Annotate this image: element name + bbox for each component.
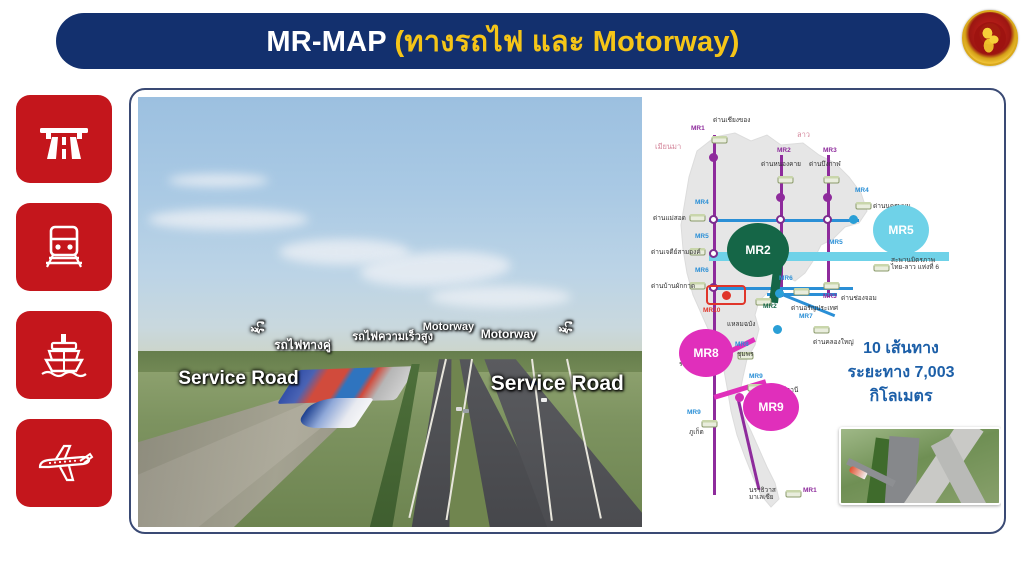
header-bar: MR-MAP (ทางรถไฟ และ Motorway) <box>56 13 950 69</box>
border-checkpoint-icon <box>813 323 830 334</box>
content-panel: Service Road Service Road รั้ว รั้ว รถไฟ… <box>129 88 1006 534</box>
vehicle <box>463 409 469 413</box>
bubble-mr5[interactable]: MR5 <box>873 205 929 255</box>
page-title: MR-MAP (ทางรถไฟ และ Motorway) <box>266 18 739 64</box>
sidebar-item-airport[interactable] <box>16 419 112 507</box>
map-node[interactable] <box>709 215 718 224</box>
border-checkpoint-icon <box>711 133 728 144</box>
map-node[interactable] <box>823 215 832 224</box>
stat-routes: 10 เส้นทาง <box>801 337 1001 361</box>
corridor-id-mr4-east: MR4 <box>855 187 869 194</box>
corridor-id-mr4-west: MR4 <box>695 199 709 206</box>
corridor-id-mr2-spur: MR2 <box>763 303 777 310</box>
map-node[interactable] <box>735 393 744 402</box>
corridor-id-mr6-west: MR6 <box>695 267 709 274</box>
place-label: ด่านแม่สอด <box>653 213 686 223</box>
thai-government-emblem-icon <box>962 10 1018 66</box>
sidebar-item-motorway[interactable] <box>16 95 112 183</box>
ship-icon <box>36 330 92 380</box>
map-node[interactable] <box>776 215 785 224</box>
mr10-port-marker[interactable] <box>706 285 746 305</box>
map-node[interactable] <box>776 193 785 202</box>
map-node[interactable] <box>775 289 784 298</box>
label-fence-right: รั้ว <box>559 320 578 333</box>
corridor-id-mr3-south: MR3 <box>823 293 837 300</box>
corridor-id-mr5-east: MR5 <box>829 239 843 246</box>
airplane-icon <box>34 440 94 486</box>
stat-unit: กิโลเมตร <box>801 385 1001 409</box>
corridor-id-mr5-west: MR5 <box>695 233 709 240</box>
border-checkpoint-icon <box>823 279 840 290</box>
corridor-id-mr3: MR3 <box>823 147 837 154</box>
map-node[interactable] <box>709 153 718 162</box>
corridor-id-mr1: MR1 <box>691 125 705 132</box>
country-label-laos: ลาว <box>797 129 810 141</box>
corridor-id-mr9-phuket: MR9 <box>687 409 701 416</box>
place-label: ด่านบ้านผักกาด <box>651 281 695 291</box>
map-node[interactable] <box>709 249 718 258</box>
transport-mode-sidebar <box>16 95 112 507</box>
label-service-road-left: Service Road <box>178 368 298 390</box>
corridor-id-mr1-south: MR1 <box>803 487 817 494</box>
mr-map-corridor-render-photo: Service Road Service Road รั้ว รั้ว รถไฟ… <box>138 97 642 527</box>
corridor-id-mr10: MR10 <box>703 307 720 314</box>
place-label: ด่านหนองคาย <box>761 159 801 169</box>
place-label: ด่านอรัญประเทศ <box>791 303 838 313</box>
place-label: แหลมฉบัง <box>727 319 755 329</box>
corridor-id-mr9-surat: MR9 <box>749 373 763 380</box>
corridor-id-mr6-east: MR6 <box>779 275 793 282</box>
label-motorway-left: Motorway <box>423 321 474 333</box>
map-node[interactable] <box>849 215 858 224</box>
corridor-id-mr7: MR7 <box>799 313 813 320</box>
page-title-en: MR-MAP <box>266 26 394 58</box>
aerial-rail-and-motorway-photo <box>839 427 1001 505</box>
sidebar-item-railway[interactable] <box>16 203 112 291</box>
border-checkpoint-icon <box>689 211 706 222</box>
corridor-line-mr1 <box>713 135 716 495</box>
place-label: นราธิวาส มาเลเซีย <box>749 487 793 502</box>
place-label: ด่านช่องจอม <box>841 293 877 303</box>
label-motorway-right: Motorway <box>481 327 537 341</box>
vehicle <box>456 407 462 411</box>
border-checkpoint-icon <box>855 199 872 210</box>
label-service-road-right: Service Road <box>491 372 624 396</box>
emblem-glyph <box>974 22 1006 54</box>
bubble-mr8[interactable]: MR8 <box>679 329 733 377</box>
border-checkpoint-icon <box>873 261 890 272</box>
bubble-mr9[interactable]: MR9 <box>743 383 799 431</box>
corridor-id-mr2: MR2 <box>777 147 791 154</box>
map-node[interactable] <box>823 193 832 202</box>
thailand-mr-map-diagram: เมียนมา ลาว MR1 ด่านเชียงของ MR2 ด่านหนอ… <box>651 97 1001 527</box>
vehicle <box>541 398 547 402</box>
cloud <box>430 286 571 308</box>
country-label-myanmar: เมียนมา <box>655 141 681 153</box>
border-checkpoint-icon <box>793 285 810 296</box>
train-icon <box>37 222 91 272</box>
border-checkpoint-icon <box>823 173 840 184</box>
border-checkpoint-icon <box>777 173 794 184</box>
corridor-id-mr8-chumphon: MR8 <box>735 341 749 348</box>
motorway-icon <box>37 115 91 163</box>
stat-distance: ระยะทาง 7,003 <box>801 361 1001 385</box>
place-label: ด่านเชียงของ <box>713 115 750 125</box>
label-fence-left: รั้ว <box>251 320 270 333</box>
route-statistics: 10 เส้นทาง ระยะทาง 7,003 กิโลเมตร <box>801 337 1001 409</box>
page-title-th: (ทางรถไฟ และ Motorway) <box>395 26 740 58</box>
bubble-mr2[interactable]: MR2 <box>727 223 789 277</box>
label-high-speed-rail: รถไฟความเร็วสูง <box>352 327 433 345</box>
place-label: สะพานมิตรภาพ ไทย-ลาว แห่งที่ 6 <box>891 257 947 271</box>
place-label: ชุมพร <box>737 349 753 359</box>
map-node[interactable] <box>773 325 782 334</box>
sidebar-item-port[interactable] <box>16 311 112 399</box>
label-dual-track-rail: รถไฟทางคู่ <box>274 336 331 355</box>
place-label: ภูเก็ต <box>689 427 704 437</box>
port-dot-icon <box>722 291 731 300</box>
place-label: ด่านเจดีย์สามองค์ <box>651 247 701 257</box>
place-label: ด่านบึงกาฬ <box>809 159 841 169</box>
